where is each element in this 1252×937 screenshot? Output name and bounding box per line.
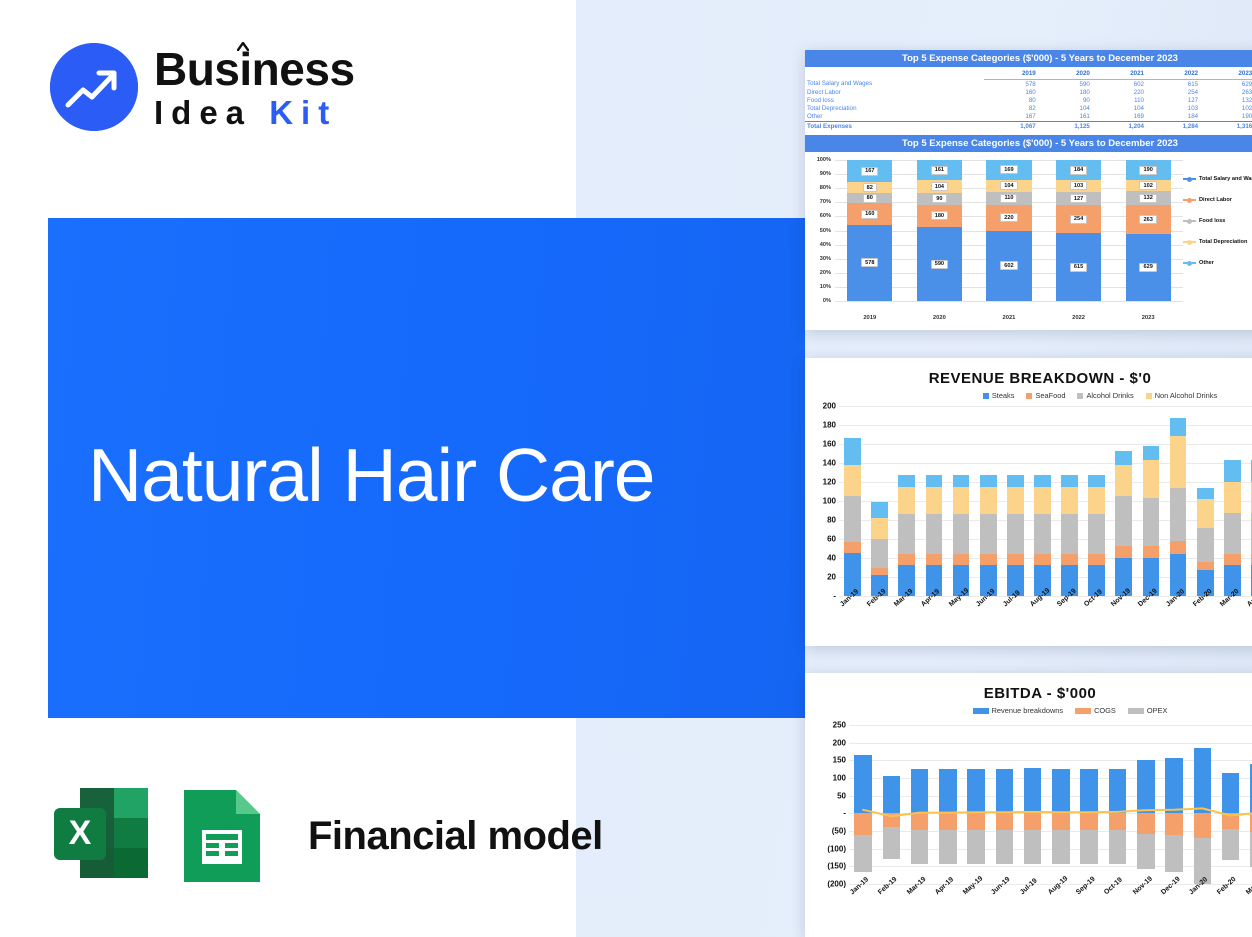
bar-segment — [980, 514, 997, 554]
bar-segment — [1115, 496, 1132, 545]
logo-idea-word: Idea — [154, 94, 252, 131]
bar-segment — [980, 487, 997, 515]
chart-column — [1103, 725, 1131, 884]
chart-column — [849, 725, 877, 884]
bar-segment — [1224, 460, 1241, 482]
y-tick: (150) — [827, 862, 846, 871]
bar-segment — [1137, 834, 1155, 869]
chart-column — [948, 406, 975, 596]
bar-segment — [898, 475, 915, 486]
y-tick: 140 — [823, 459, 836, 468]
chart-column — [1047, 725, 1075, 884]
legend-label: Other — [1199, 260, 1214, 266]
bar-segment — [898, 554, 915, 564]
bar-segment — [1061, 487, 1078, 515]
y-tick: 200 — [823, 402, 836, 411]
y-tick: 80 — [827, 516, 836, 525]
expenses-table: 201920202021202220232 Total Salary and W… — [805, 67, 1252, 131]
chart-column — [1002, 406, 1029, 596]
bar-segment — [1224, 513, 1241, 554]
legend-label: COGS — [1094, 706, 1116, 715]
chart-column — [1219, 406, 1246, 596]
legend-item: Other — [1183, 260, 1252, 266]
col-header: 2020 — [1038, 67, 1092, 80]
legend-label: Direct Labor — [1199, 197, 1232, 203]
bar-value-label: 104 — [931, 182, 948, 191]
x-tick: 2022 — [1056, 315, 1101, 321]
bar-segment — [1165, 758, 1183, 813]
legend-item: Food loss — [1183, 218, 1252, 224]
bar-segment: 184 — [1056, 160, 1101, 180]
bar-segment — [1165, 813, 1183, 834]
logo-kit-word: Kit — [269, 94, 337, 131]
bar-segment — [898, 487, 915, 515]
bar-segment — [1222, 813, 1240, 829]
chart-column — [1245, 725, 1252, 884]
bar-segment: 629 — [1126, 234, 1171, 301]
bar-segment — [844, 542, 861, 553]
bar-value-label: 104 — [1000, 181, 1017, 190]
legend-label: Alcohol Drinks — [1086, 391, 1133, 400]
bar-segment — [1034, 514, 1051, 554]
y-tick: 20 — [827, 573, 836, 582]
bar-value-label: 220 — [1000, 213, 1017, 222]
logo-business-word: Business — [154, 43, 355, 95]
bar-segment — [939, 830, 957, 864]
bar-segment — [1007, 475, 1024, 486]
bar-segment — [953, 554, 970, 564]
legend-swatch — [1183, 178, 1196, 180]
bar-segment — [980, 475, 997, 486]
legend-swatch — [1183, 199, 1196, 201]
bar-segment — [1034, 475, 1051, 486]
bar-segment — [996, 813, 1014, 830]
bar-segment — [1052, 769, 1070, 814]
bar-segment: 615 — [1056, 233, 1101, 301]
bar-segment — [1052, 813, 1070, 830]
bar-segment — [1061, 514, 1078, 554]
legend-item: SeaFood — [1026, 391, 1065, 400]
screenshot-card-ebitda[interactable]: EBITDA - $'000 Revenue breakdownsCOGSOPE… — [805, 673, 1252, 937]
table-row: Total Depreciation82104104103102 — [805, 105, 1252, 113]
legend-swatch — [1183, 241, 1196, 243]
bar-segment — [871, 518, 888, 539]
bar-segment — [1034, 554, 1051, 564]
chart-column — [1083, 406, 1110, 596]
bar-segment: 104 — [986, 180, 1031, 192]
bar-value-label: 90 — [932, 194, 946, 203]
bar-segment: 127 — [1056, 192, 1101, 206]
bar-value-label: 263 — [1139, 215, 1156, 224]
stacked-bar: 16110490180590 — [917, 160, 962, 301]
y-tick: 0% — [823, 298, 831, 304]
ebitda-chart-legend: Revenue breakdownsCOGSOPEX — [865, 706, 1252, 715]
bar-segment — [1080, 769, 1098, 814]
bar-value-label: 82 — [863, 183, 877, 192]
bar-segment: 110 — [986, 192, 1031, 205]
bar-segment — [1143, 446, 1160, 460]
y-tick: 250 — [833, 721, 846, 730]
bar-segment: 82 — [847, 182, 892, 193]
legend-item: Alcohol Drinks — [1077, 391, 1133, 400]
bar-segment — [1222, 773, 1240, 813]
bar-segment — [1197, 488, 1214, 499]
legend-label: Total Depreciation — [1199, 239, 1247, 245]
bar-segment: 263 — [1126, 205, 1171, 233]
bar-segment — [871, 539, 888, 568]
chart-bars: 1678280160578161104901805901691041102206… — [835, 160, 1183, 301]
bar-segment — [1052, 830, 1070, 864]
stacked-bar: 190102132263629 — [1126, 160, 1171, 301]
stacked-bar: 169104110220602 — [986, 160, 1031, 301]
chart-column — [866, 406, 893, 596]
bar-segment — [854, 755, 872, 814]
table-row: Direct Labor160180220254263 — [805, 88, 1252, 96]
bar-segment: 90 — [917, 193, 962, 204]
legend-swatch — [1146, 393, 1152, 399]
col-header: 2021 — [1092, 67, 1146, 80]
bar-segment: 160 — [847, 203, 892, 224]
bar-segment — [1109, 813, 1127, 830]
bar-segment — [1007, 487, 1024, 515]
legend-item: Direct Labor — [1183, 197, 1252, 203]
chart-y-axis-labels: 100%90%80%70%60%50%40%30%20%10%0% — [805, 160, 833, 301]
chart-column — [1160, 725, 1188, 884]
y-tick: 80% — [820, 185, 831, 191]
y-tick: - — [833, 592, 836, 601]
legend-label: Total Salary and Wag — [1199, 176, 1252, 182]
legend-swatch — [1128, 708, 1144, 714]
bar-segment — [844, 465, 861, 496]
legend-item: OPEX — [1128, 706, 1168, 715]
bar-segment — [1061, 475, 1078, 486]
chart-column — [1216, 725, 1244, 884]
bar-segment — [1024, 768, 1042, 813]
bar-segment: 602 — [986, 231, 1031, 301]
y-tick: 50% — [820, 228, 831, 234]
bar-value-label: 160 — [861, 210, 878, 219]
bar-segment — [1170, 418, 1187, 436]
bar-segment: 220 — [986, 205, 1031, 231]
bar-segment — [1143, 460, 1160, 498]
ebitda-y-axis: 25020015010050-(50)(100)(150)(200) — [805, 725, 849, 884]
bar-segment — [898, 514, 915, 554]
bar-segment — [967, 813, 985, 830]
bar-segment: 167 — [847, 160, 892, 182]
bar-segment — [1080, 830, 1098, 864]
bar-segment: 102 — [1126, 180, 1171, 191]
bar-segment — [911, 769, 929, 814]
bar-value-label: 110 — [1000, 194, 1017, 203]
chart-column — [975, 406, 1002, 596]
legend-label: Steaks — [992, 391, 1015, 400]
expenses-stacked-chart: 100%90%80%70%60%50%40%30%20%10%0% 167828… — [805, 152, 1252, 327]
growth-arrow-icon — [50, 43, 138, 131]
bar-segment — [883, 827, 901, 858]
bar-segment: 103 — [1056, 180, 1101, 191]
chart-column — [1192, 406, 1219, 596]
bar-segment — [871, 502, 888, 518]
y-tick: (100) — [827, 844, 846, 853]
bar-segment — [1109, 769, 1127, 813]
legend-label: SeaFood — [1035, 391, 1065, 400]
y-tick: 100 — [823, 497, 836, 506]
bar-segment: 104 — [917, 180, 962, 193]
bar-segment — [871, 568, 888, 576]
chart-column — [906, 725, 934, 884]
bar-segment — [1170, 541, 1187, 554]
bar-segment — [953, 487, 970, 515]
bar-segment — [939, 769, 957, 814]
legend-label: Revenue breakdowns — [992, 706, 1064, 715]
bar-value-label: 161 — [931, 166, 948, 175]
chart-column — [920, 406, 947, 596]
screenshot-card-revenue[interactable]: REVENUE BREAKDOWN - $'0 SteaksSeaFoodAlc… — [805, 358, 1252, 646]
bar-segment — [1080, 813, 1098, 830]
bar-segment — [854, 813, 872, 835]
bar-segment — [1197, 562, 1214, 571]
chart-column — [990, 725, 1018, 884]
y-tick: 50 — [837, 791, 846, 800]
col-header: 2022 — [1146, 67, 1200, 80]
ebitda-bars — [849, 725, 1252, 884]
bar-segment: 132 — [1126, 191, 1171, 205]
bar-segment — [996, 769, 1014, 814]
legend-swatch — [973, 708, 989, 714]
bar-value-label: 190 — [1139, 166, 1156, 175]
bar-segment — [1115, 465, 1132, 496]
y-tick: 180 — [823, 421, 836, 430]
chart-column — [893, 406, 920, 596]
stacked-bar: 1678280160578 — [847, 160, 892, 301]
bar-value-label: 602 — [1000, 261, 1017, 270]
bar-segment: 590 — [917, 227, 962, 301]
x-tick: 2021 — [986, 315, 1031, 321]
bar-value-label: 169 — [1000, 165, 1017, 174]
bar-segment — [953, 514, 970, 554]
y-tick: 60 — [827, 535, 836, 544]
y-tick: (50) — [832, 827, 846, 836]
col-header: 2019 — [984, 67, 1038, 80]
bar-segment — [1088, 514, 1105, 554]
chart-column — [839, 406, 866, 596]
bar-segment — [1137, 760, 1155, 814]
legend-swatch — [1026, 393, 1032, 399]
legend-swatch — [1075, 708, 1091, 714]
ebitda-plot: 25020015010050-(50)(100)(150)(200) Jan-1… — [805, 715, 1252, 930]
y-tick: 120 — [823, 478, 836, 487]
chart-column — [877, 725, 905, 884]
y-tick: 60% — [820, 213, 831, 219]
expenses-chart-banner: Top 5 Expense Categories ($'000) - 5 Yea… — [805, 135, 1252, 152]
bar-segment — [883, 776, 901, 813]
legend-item: Revenue breakdowns — [973, 706, 1064, 715]
bar-segment — [911, 830, 929, 864]
bar-segment — [1224, 482, 1241, 513]
bar-segment: 80 — [847, 193, 892, 204]
bar-value-label: 615 — [1070, 263, 1087, 272]
col-header — [805, 67, 984, 80]
legend-item: Steaks — [983, 391, 1015, 400]
chart-column — [1246, 406, 1252, 596]
legend-item: Total Salary and Wag — [1183, 176, 1252, 182]
table-row: Other167161169184190 — [805, 113, 1252, 122]
logo-text-business: Business — [154, 46, 355, 92]
chart-column — [962, 725, 990, 884]
brand-logo: Business Idea Kit — [50, 43, 355, 131]
bar-value-label: 80 — [863, 194, 877, 203]
bar-segment — [1224, 554, 1241, 564]
x-tick: 2019 — [847, 315, 892, 321]
bar-segment — [1194, 813, 1212, 838]
y-tick: 160 — [823, 440, 836, 449]
chart-column — [1188, 725, 1216, 884]
stacked-bar: 184103127254615 — [1056, 160, 1101, 301]
page-title: Natural Hair Care — [88, 432, 768, 518]
bar-segment — [1109, 830, 1127, 864]
legend-swatch — [1077, 393, 1083, 399]
y-tick: 90% — [820, 171, 831, 177]
bar-segment — [1170, 488, 1187, 541]
chart-column — [1110, 406, 1137, 596]
bar-segment — [1024, 813, 1042, 830]
bar-segment — [967, 769, 985, 814]
legend-label: Non Alcohol Drinks — [1155, 391, 1217, 400]
screenshot-card-expenses[interactable]: Top 5 Expense Categories ($'000) - 5 Yea… — [805, 50, 1252, 330]
bar-value-label: 127 — [1070, 194, 1087, 203]
google-sheets-icon — [172, 786, 272, 886]
x-tick: 2020 — [917, 315, 962, 321]
legend-swatch — [983, 393, 989, 399]
x-tick: 2023 — [1126, 315, 1171, 321]
table-row: Food loss8090110127132 — [805, 96, 1252, 104]
expenses-table-banner: Top 5 Expense Categories ($'000) - 5 Yea… — [805, 50, 1252, 67]
bar-segment — [1170, 436, 1187, 487]
y-tick: (200) — [827, 880, 846, 889]
revenue-chart-legend: SteaksSeaFoodAlcohol DrinksNon Alcohol D… — [925, 391, 1252, 400]
bar-segment — [926, 487, 943, 515]
bar-segment — [1197, 499, 1214, 528]
bar-value-label: 102 — [1139, 181, 1156, 190]
bar-segment — [883, 813, 901, 827]
chart-column — [1029, 406, 1056, 596]
y-tick: 100% — [817, 157, 831, 163]
table-row: Total Salary and Wages578590602615629 — [805, 80, 1252, 89]
legend-label: Food loss — [1199, 218, 1225, 224]
bar-segment: 180 — [917, 205, 962, 228]
y-tick: 70% — [820, 199, 831, 205]
bar-segment — [854, 835, 872, 872]
chart-column — [1132, 725, 1160, 884]
table-row: Total Expenses1,0671,1251,2041,2841,316 — [805, 121, 1252, 131]
bar-segment — [844, 496, 861, 542]
bar-segment — [980, 554, 997, 564]
bar-segment — [1088, 487, 1105, 515]
bar-value-label: 132 — [1139, 194, 1156, 203]
footer-row: X Financial model — [50, 786, 603, 886]
y-tick: 200 — [833, 738, 846, 747]
chart-column — [1019, 725, 1047, 884]
chart-column — [1165, 406, 1192, 596]
legend-item: Total Depreciation — [1183, 239, 1252, 245]
legend-item: Non Alcohol Drinks — [1146, 391, 1217, 400]
ebitda-chart-title: EBITDA - $'000 — [805, 673, 1252, 706]
chart-column — [934, 725, 962, 884]
col-header: 2023 — [1200, 67, 1252, 80]
bar-segment — [1143, 498, 1160, 546]
bar-segment — [1143, 546, 1160, 558]
bar-segment — [926, 475, 943, 486]
bar-segment — [1222, 829, 1240, 860]
bar-value-label: 180 — [931, 211, 948, 220]
bar-segment — [1024, 830, 1042, 864]
y-tick: 40 — [827, 554, 836, 563]
bar-segment — [926, 514, 943, 554]
bar-value-label: 578 — [861, 258, 878, 267]
bar-segment — [967, 830, 985, 864]
bar-segment — [911, 813, 929, 830]
bar-segment — [1115, 546, 1132, 558]
bar-segment: 161 — [917, 160, 962, 180]
legend-item: COGS — [1075, 706, 1116, 715]
bar-value-label: 167 — [861, 167, 878, 176]
bar-segment — [939, 813, 957, 830]
bar-segment — [1061, 554, 1078, 564]
chart-column — [1075, 725, 1103, 884]
chart-legend: Total Salary and WagDirect LaborFood los… — [1183, 176, 1252, 281]
bar-segment — [996, 830, 1014, 864]
y-tick: 100 — [833, 774, 846, 783]
bar-segment: 169 — [986, 160, 1031, 180]
bar-segment — [1088, 475, 1105, 486]
bar-segment — [1007, 514, 1024, 554]
bar-segment: 578 — [847, 225, 892, 301]
bar-segment — [1115, 451, 1132, 465]
y-tick: 150 — [833, 756, 846, 765]
bar-value-label: 103 — [1070, 181, 1087, 190]
bar-segment — [1137, 813, 1155, 833]
legend-swatch — [1183, 220, 1196, 222]
chart-x-axis-labels: 20192020202120222023 — [835, 315, 1183, 321]
bar-segment: 254 — [1056, 205, 1101, 233]
revenue-chart-title: REVENUE BREAKDOWN - $'0 — [805, 358, 1252, 391]
bar-value-label: 184 — [1070, 166, 1087, 175]
footer-label: Financial model — [308, 814, 603, 859]
chart-column — [1137, 406, 1164, 596]
bar-segment — [926, 554, 943, 564]
svg-text:X: X — [69, 814, 92, 852]
bar-segment — [844, 438, 861, 465]
y-tick: 30% — [820, 256, 831, 262]
revenue-bars — [839, 406, 1252, 596]
logo-text-idea-kit: Idea Kit — [154, 96, 355, 129]
revenue-plot: 20018016014012010080604020- Jan-19Feb-19… — [805, 400, 1252, 642]
bar-segment — [1088, 554, 1105, 564]
bar-segment — [1165, 835, 1183, 872]
chart-column — [1056, 406, 1083, 596]
y-tick: - — [843, 809, 846, 818]
revenue-x-axis: Jan-19Feb-19Mar-19Apr-19May-19Jun-19Jul-… — [839, 603, 1252, 610]
table-header-row: 201920202021202220232 — [805, 67, 1252, 80]
y-tick: 40% — [820, 242, 831, 248]
bar-segment — [1007, 554, 1024, 564]
microsoft-excel-icon: X — [50, 786, 150, 886]
bar-value-label: 629 — [1139, 263, 1156, 272]
bar-value-label: 590 — [931, 260, 948, 269]
y-tick: 10% — [820, 284, 831, 290]
bar-segment — [1194, 748, 1212, 813]
bar-value-label: 254 — [1070, 215, 1087, 224]
